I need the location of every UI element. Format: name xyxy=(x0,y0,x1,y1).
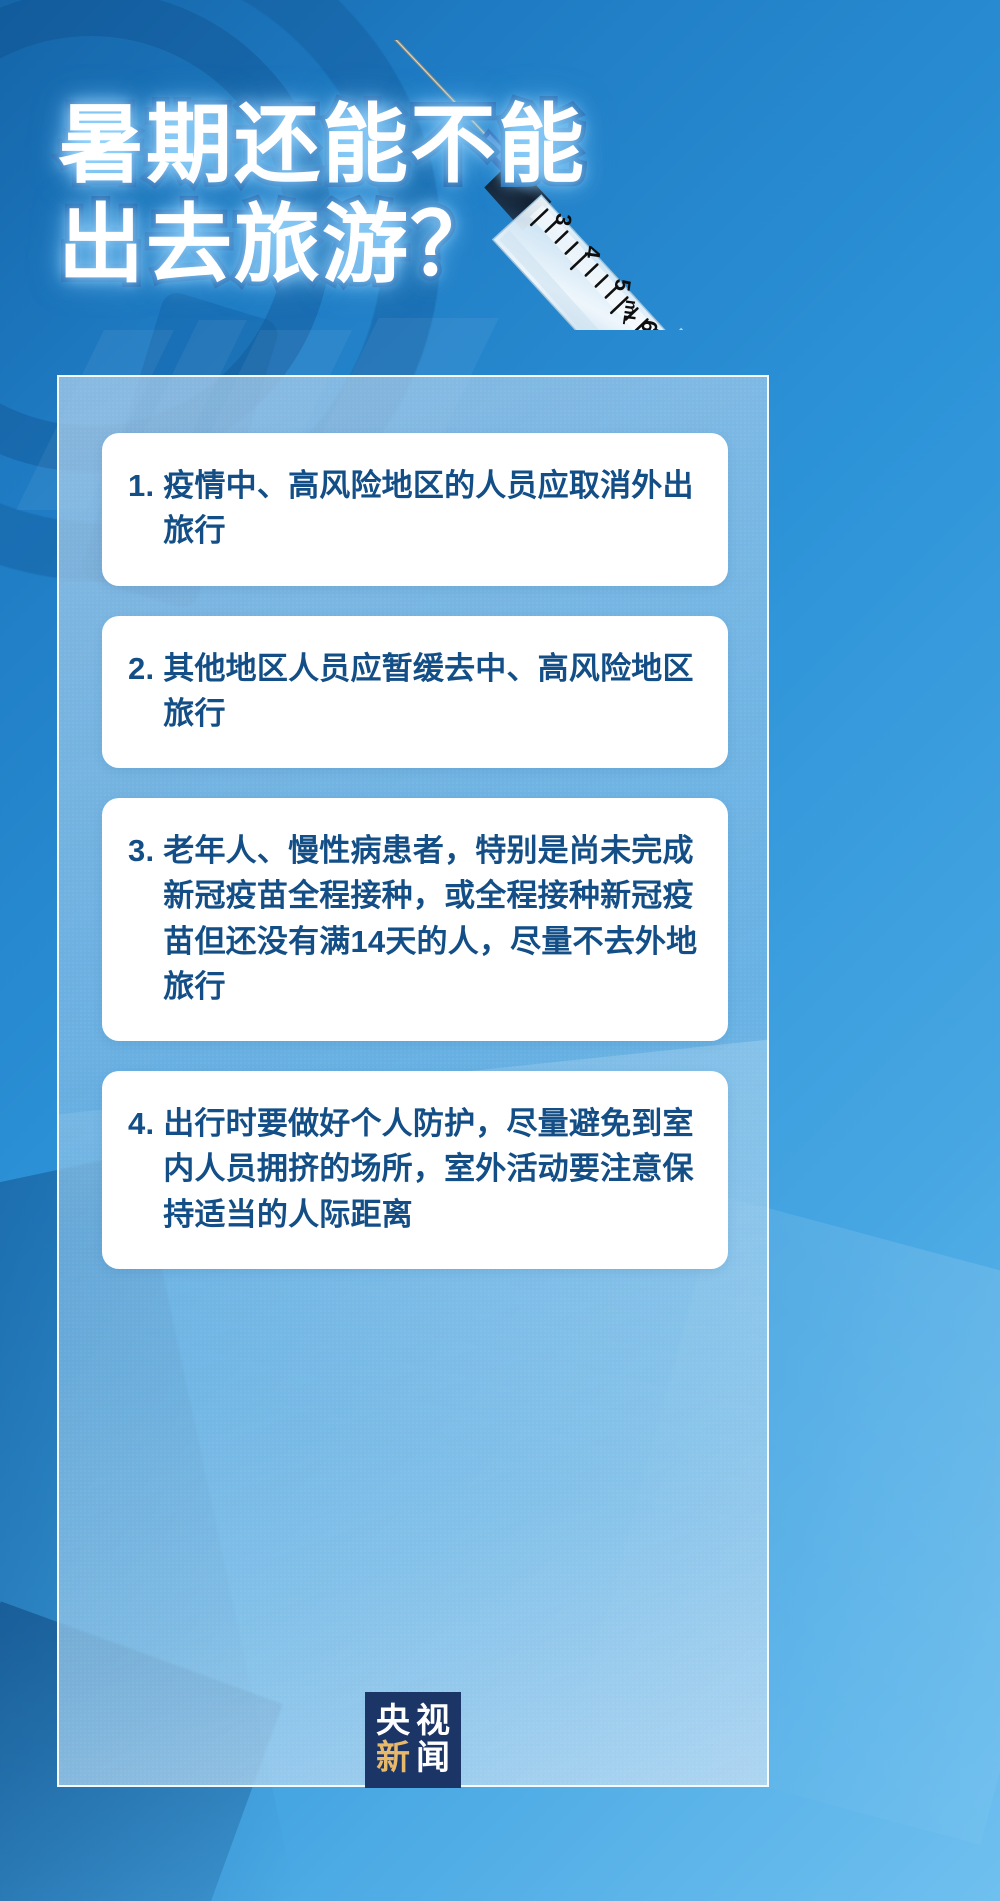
logo-char-wen: 闻 xyxy=(413,1740,453,1777)
advice-card-text: 1. 疫情中、高风险地区的人员应取消外出旅行 xyxy=(128,463,702,554)
advice-card: 1. 疫情中、高风险地区的人员应取消外出旅行 xyxy=(102,433,728,586)
title-line-1: 暑期还能不能 xyxy=(58,96,586,196)
content-panel: 1. 疫情中、高风险地区的人员应取消外出旅行 2. 其他地区人员应暂缓去中、高风… xyxy=(57,375,769,1787)
advice-card-text: 3. 老年人、慢性病患者，特别是尚未完成新冠疫苗全程接种，或全程接种新冠疫苗但还… xyxy=(128,828,702,1009)
advice-card: 2. 其他地区人员应暂缓去中、高风险地区旅行 xyxy=(102,616,728,769)
svg-text:6: 6 xyxy=(636,319,662,330)
logo-char-shi: 视 xyxy=(413,1703,453,1740)
advice-card-number: 1. xyxy=(128,463,154,508)
advice-card-body: 疫情中、高风险地区的人员应取消外出旅行 xyxy=(163,463,702,554)
advice-card-body: 老年人、慢性病患者，特别是尚未完成新冠疫苗全程接种，或全程接种新冠疫苗但还没有满… xyxy=(163,828,702,1009)
advice-card-number: 2. xyxy=(128,646,154,691)
poster-title: 暑期还能不能 出去旅游？ xyxy=(58,96,586,296)
logo-char-xin: 新 xyxy=(373,1740,413,1777)
poster-canvas: 3 4 5 mL 6 暑期还能不能 出去旅游？ 1. xyxy=(0,0,1000,1901)
title-line-2: 出去旅游？ xyxy=(58,196,586,296)
advice-card-number: 3. xyxy=(128,828,154,873)
advice-card-text: 4. 出行时要做好个人防护，尽量避免到室内人员拥挤的场所，室外活动要注意保持适当… xyxy=(128,1101,702,1237)
advice-card: 3. 老年人、慢性病患者，特别是尚未完成新冠疫苗全程接种，或全程接种新冠疫苗但还… xyxy=(102,798,728,1041)
advice-card-number: 4. xyxy=(128,1101,154,1146)
advice-card-text: 2. 其他地区人员应暂缓去中、高风险地区旅行 xyxy=(128,646,702,737)
advice-card-body: 其他地区人员应暂缓去中、高风险地区旅行 xyxy=(163,646,702,737)
advice-card-body: 出行时要做好个人防护，尽量避免到室内人员拥挤的场所，室外活动要注意保持适当的人际… xyxy=(163,1101,702,1237)
advice-card: 4. 出行时要做好个人防护，尽量避免到室内人员拥挤的场所，室外活动要注意保持适当… xyxy=(102,1071,728,1269)
advice-card-list: 1. 疫情中、高风险地区的人员应取消外出旅行 2. 其他地区人员应暂缓去中、高风… xyxy=(102,433,728,1269)
logo-char-yang: 央 xyxy=(373,1703,413,1740)
cctv-news-logo: 央 视 新 闻 xyxy=(365,1692,461,1788)
